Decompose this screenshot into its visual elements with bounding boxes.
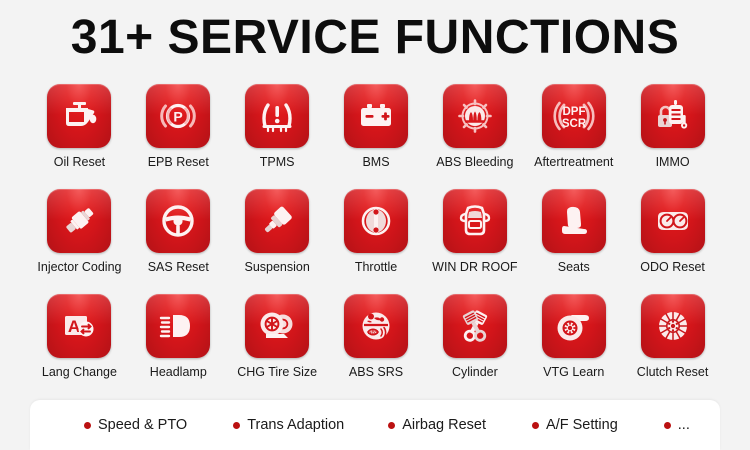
tile-throttle[interactable] [344,189,408,253]
tile-sas-reset[interactable] [146,189,210,253]
function-label: Clutch Reset [637,366,709,379]
function-grid: Oil Reset P EPB Reset [30,84,722,399]
tile-tpms[interactable] [245,84,309,148]
function-label: WIN DR ROOF [432,261,517,274]
tile-immo[interactable] [641,84,705,148]
function-label: Injector Coding [37,261,121,274]
function-item-throttle[interactable]: Throttle [327,189,426,294]
odometer-cluster-icon [652,200,694,242]
bullet-dot-icon [664,422,671,429]
function-label: SAS Reset [148,261,209,274]
tile-injector-coding[interactable] [47,189,111,253]
tile-chg-tire-size[interactable] [245,294,309,358]
clutch-disc-icon [652,305,694,347]
tile-oil-reset[interactable] [47,84,111,148]
function-item-odo-reset[interactable]: ODO Reset [623,189,722,294]
function-item-bms[interactable]: BMS [327,84,426,189]
tire-pressure-icon [256,95,298,137]
tile-odo-reset[interactable] [641,189,705,253]
car-seat-icon [553,200,595,242]
bullet-dot-icon [388,422,395,429]
tile-cylinder[interactable] [443,294,507,358]
function-row: Oil Reset P EPB Reset [30,84,722,189]
tile-aftertreatment[interactable]: DPF SCR [542,84,606,148]
function-label: Cylinder [452,366,498,379]
steering-wheel-icon [157,200,199,242]
function-item-oil-reset[interactable]: Oil Reset [30,84,129,189]
svg-text:ABS: ABS [368,330,379,336]
function-label: TPMS [260,156,295,169]
function-row: Injector Coding SAS Reset [30,189,722,294]
brake-disc-icon [454,95,496,137]
function-label: CHG Tire Size [237,366,317,379]
tile-suspension[interactable] [245,189,309,253]
function-item-cylinder[interactable]: Cylinder [425,294,524,399]
change-tire-size-icon [256,305,298,347]
function-item-suspension[interactable]: Suspension [228,189,327,294]
tile-seats[interactable] [542,189,606,253]
function-label: IMMO [656,156,690,169]
function-item-headlamp[interactable]: Headlamp [129,294,228,399]
piston-cylinder-icon [454,305,496,347]
battery-icon [355,95,397,137]
list-item: A/F Setting [532,418,618,433]
function-item-sas-reset[interactable]: SAS Reset [129,189,228,294]
car-top-view-icon [454,200,496,242]
function-item-seats[interactable]: Seats [524,189,623,294]
svg-text:A: A [68,317,80,336]
function-item-immo[interactable]: IMMO [623,84,722,189]
function-item-clutch-reset[interactable]: Clutch Reset [623,294,722,399]
service-functions-poster: 31+ SERVICE FUNCTIONS [0,0,750,450]
function-label: ODO Reset [640,261,705,274]
function-label: ABS Bleeding [436,156,513,169]
function-item-abs-bleeding[interactable]: ABS Bleeding [425,84,524,189]
function-item-vtg-learn[interactable]: VTG Learn [524,294,623,399]
headlamp-icon [157,305,199,347]
turbocharger-icon [553,305,595,347]
function-label: Oil Reset [54,156,105,169]
tile-abs-srs[interactable]: ABS [344,294,408,358]
throttle-body-icon [355,200,397,242]
abs-srs-airbag-icon: ABS [355,305,397,347]
page-title: 31+ SERVICE FUNCTIONS [0,14,750,62]
bullet-dot-icon [233,422,240,429]
dpf-scr-icon: DPF SCR [553,95,595,137]
function-label: Seats [558,261,590,274]
immobilizer-lock-icon [652,95,694,137]
list-item: ... [664,418,690,433]
function-item-abs-srs[interactable]: ABS ABS SRS [327,294,426,399]
list-item-label: Speed & PTO [98,418,187,433]
function-label: Throttle [355,261,397,274]
oil-can-icon [58,95,100,137]
tile-win-dr-roof[interactable] [443,189,507,253]
fuel-injector-icon [58,200,100,242]
tile-vtg-learn[interactable] [542,294,606,358]
function-label: Suspension [244,261,309,274]
language-swap-icon: A [58,305,100,347]
function-item-injector-coding[interactable]: Injector Coding [30,189,129,294]
function-item-epb-reset[interactable]: P EPB Reset [129,84,228,189]
function-item-chg-tire-size[interactable]: CHG Tire Size [228,294,327,399]
list-item-label: Airbag Reset [402,418,486,433]
electronic-parking-brake-icon: P [157,95,199,137]
bottom-bullet-list: Speed & PTO Trans Adaption Airbag Reset … [30,400,720,450]
list-item-label: ... [678,418,690,433]
list-item: Airbag Reset [388,418,486,433]
function-item-aftertreatment[interactable]: DPF SCR Aftertreatment [524,84,623,189]
function-label: ABS SRS [349,366,403,379]
svg-text:P: P [174,109,183,125]
list-item: Trans Adaption [233,418,344,433]
list-item-label: Trans Adaption [247,418,344,433]
tile-abs-bleeding[interactable] [443,84,507,148]
function-item-lang-change[interactable]: A Lang Change [30,294,129,399]
function-label: EPB Reset [148,156,209,169]
svg-text:DPF: DPF [562,106,585,118]
function-item-tpms[interactable]: TPMS [228,84,327,189]
tile-bms[interactable] [344,84,408,148]
function-row: A Lang Change [30,294,722,399]
bullet-dot-icon [532,422,539,429]
list-item-label: A/F Setting [546,418,618,433]
list-item: Speed & PTO [84,418,187,433]
function-label: Headlamp [150,366,207,379]
function-label: VTG Learn [543,366,604,379]
tile-clutch-reset[interactable] [641,294,705,358]
svg-text:SCR: SCR [562,118,587,130]
tile-headlamp[interactable] [146,294,210,358]
bullet-dot-icon [84,422,91,429]
tile-lang-change[interactable]: A [47,294,111,358]
bottom-bar: Speed & PTO Trans Adaption Airbag Reset … [30,400,720,450]
function-label: BMS [362,156,389,169]
shock-absorber-icon [256,200,298,242]
function-label: Aftertreatment [534,156,613,169]
function-label: Lang Change [42,366,117,379]
function-item-win-dr-roof[interactable]: WIN DR ROOF [425,189,524,294]
tile-epb-reset[interactable]: P [146,84,210,148]
